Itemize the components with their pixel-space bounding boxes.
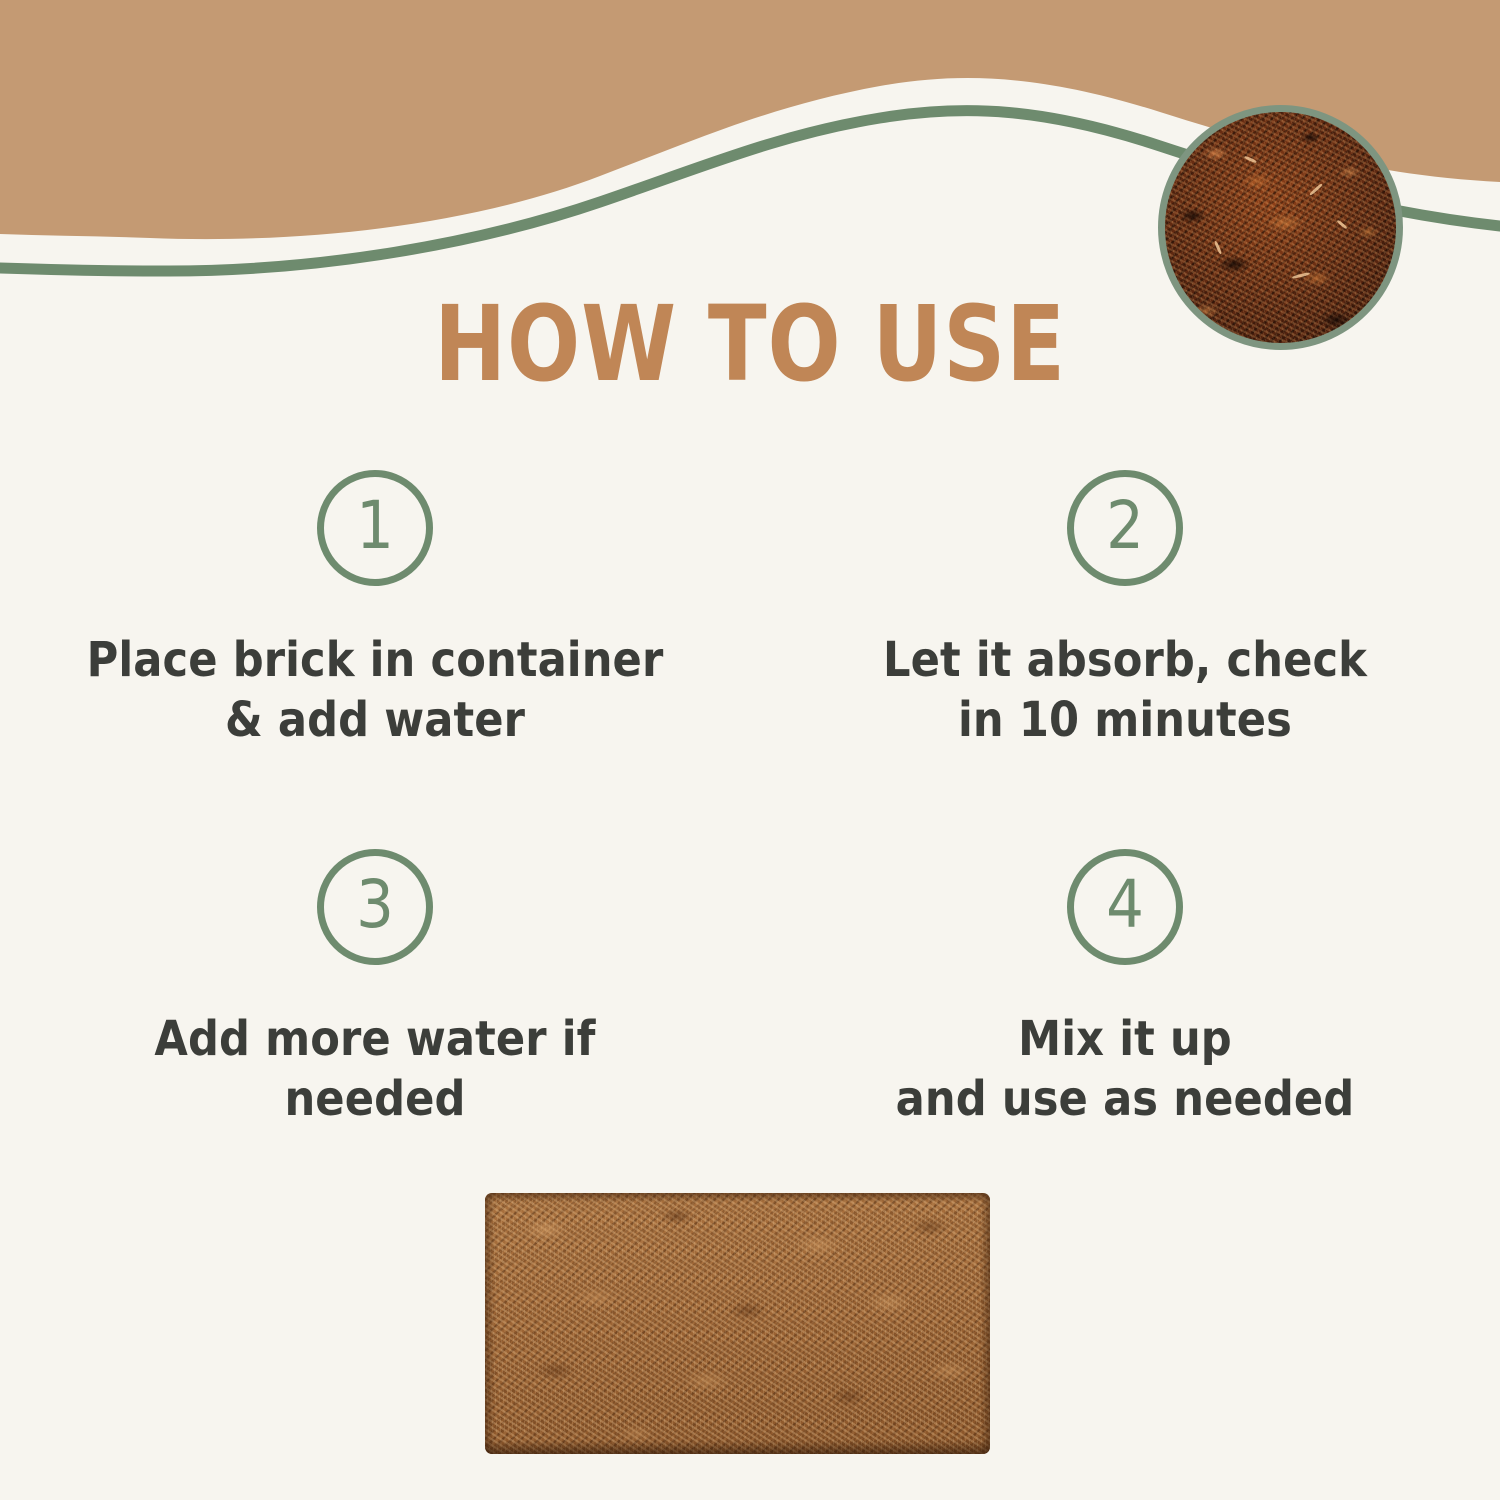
brick-top-edge-shading [485, 1193, 990, 1202]
step-item-2: 2 Let it absorb, check in 10 minutes [750, 470, 1500, 751]
step-description-2: Let it absorb, check in 10 minutes [883, 630, 1367, 751]
step-number-badge-2: 2 [1067, 470, 1183, 586]
coir-fiber-fleck [1336, 219, 1347, 229]
steps-grid: 1 Place brick in container & add water 2… [0, 470, 1500, 1130]
step-description-3: Add more water if needed [154, 1009, 595, 1130]
page-title: HOW TO USE [60, 289, 1440, 399]
infographic-page: HOW TO USE 1 Place brick in container & … [0, 0, 1500, 1500]
step-number-badge-4: 4 [1067, 849, 1183, 965]
step-item-4: 4 Mix it up and use as needed [750, 849, 1500, 1130]
step-number-badge-1: 1 [317, 470, 433, 586]
step-item-1: 1 Place brick in container & add water [0, 470, 750, 751]
coco-coir-brick-photo [485, 1193, 990, 1454]
step-description-1: Place brick in container & add water [87, 630, 664, 751]
step-item-3: 3 Add more water if needed [0, 849, 750, 1130]
brick-right-edge-shading [980, 1193, 990, 1454]
coir-fiber-fleck [1214, 240, 1222, 254]
coir-fiber-fleck [1243, 156, 1256, 164]
step-number-badge-3: 3 [317, 849, 433, 965]
coir-fiber-fleck [1292, 272, 1310, 279]
brick-left-edge-shading [485, 1193, 495, 1454]
step-description-4: Mix it up and use as needed [896, 1009, 1355, 1130]
coir-fiber-fleck [1309, 183, 1323, 196]
brick-bottom-edge-shading [485, 1440, 990, 1454]
